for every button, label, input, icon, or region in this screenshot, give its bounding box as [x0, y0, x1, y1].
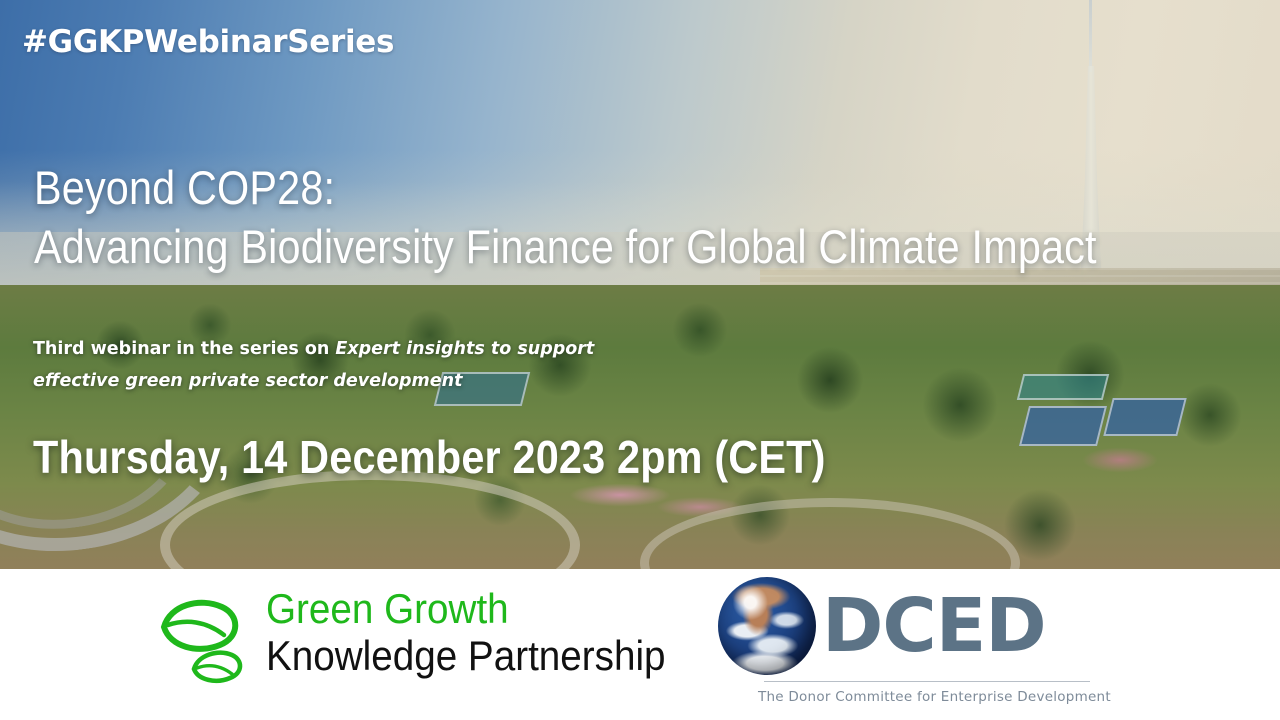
tennis-court-b — [1103, 398, 1186, 436]
subtitle-series-title-part-1: Expert insights to support — [335, 339, 594, 359]
two-leaves-icon — [148, 583, 268, 691]
ggkp-logo[interactable]: Green Growth Knowledge Partnership — [148, 583, 700, 691]
logo-footer: Green Growth Knowledge Partnership DCED … — [0, 569, 1280, 720]
hashtag-label: #GGKPWebinarSeries — [22, 24, 394, 60]
tennis-court-a — [1019, 406, 1107, 446]
dced-tagline: The Donor Committee for Enterprise Devel… — [718, 689, 1094, 705]
subtitle: Third webinar in the series on Expert in… — [33, 333, 594, 397]
earth-globe-icon — [718, 577, 816, 675]
dced-acronym: DCED — [822, 589, 1046, 663]
background-photo — [0, 0, 1280, 569]
subtitle-series-title-part-2: effective green private sector developme… — [33, 365, 594, 397]
ggkp-line-1: Green Growth — [266, 587, 666, 631]
page-title: Beyond COP28: Advancing Biodiversity Fin… — [34, 158, 1097, 276]
dced-logo[interactable]: DCED The Donor Committee for Enterprise … — [718, 577, 1094, 705]
title-line-1: Beyond COP28: — [34, 158, 1097, 217]
tennis-court-c — [1017, 374, 1109, 400]
webinar-promo-banner: #GGKPWebinarSeries Beyond COP28: Advanci… — [0, 0, 1280, 720]
subtitle-lead-text: Third webinar in the series on — [33, 339, 335, 359]
event-datetime: Thursday, 14 December 2023 2pm (CET) — [33, 431, 826, 483]
ggkp-wordmark: Green Growth Knowledge Partnership — [266, 583, 700, 681]
dced-divider — [764, 681, 1090, 682]
ggkp-line-2: Knowledge Partnership — [266, 631, 666, 681]
subtitle-line-1: Third webinar in the series on Expert in… — [33, 333, 594, 365]
title-line-2: Advancing Biodiversity Finance for Globa… — [34, 217, 1097, 276]
